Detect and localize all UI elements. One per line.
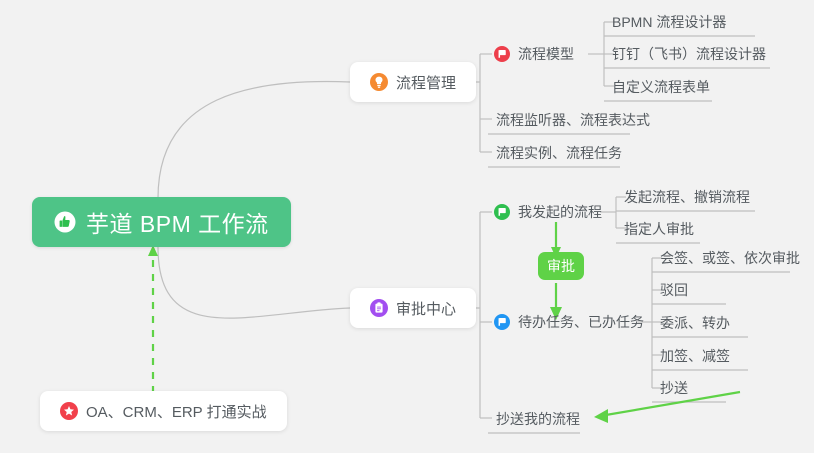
node-delegate-transfer[interactable]: 委派、转办 — [652, 308, 738, 338]
label-assigned-approval: 指定人审批 — [624, 219, 694, 239]
thumbs-up-icon — [54, 211, 76, 233]
annotation-approval-label: 审批 — [547, 256, 575, 276]
node-add-remove-sign[interactable]: 加签、减签 — [652, 341, 738, 371]
flag-icon — [494, 46, 510, 62]
label-cc-to-me-process: 抄送我的流程 — [496, 409, 580, 429]
lightbulb-icon — [370, 73, 388, 91]
label-delegate-transfer: 委派、转办 — [660, 313, 730, 333]
label-add-remove-sign: 加签、减签 — [660, 346, 730, 366]
node-instance-task[interactable]: 流程实例、流程任务 — [488, 138, 630, 168]
node-my-started-process[interactable]: 我发起的流程 — [490, 197, 610, 227]
node-custom-process-form[interactable]: 自定义流程表单 — [604, 72, 718, 102]
bottom-note-label: OA、CRM、ERP 打通实战 — [86, 401, 267, 422]
root-label: 芋道 BPM 工作流 — [86, 205, 269, 239]
label-listener-expression: 流程监听器、流程表达式 — [496, 110, 650, 130]
clipboard-icon — [370, 299, 388, 317]
label-dingtalk-feishu-designer: 钉钉（飞书）流程设计器 — [612, 44, 766, 64]
label-multi-sign: 会签、或签、依次审批 — [660, 248, 800, 268]
mindmap-canvas: 芋道 BPM 工作流 流程管理 流程模型 BPMN 流程设计器 钉钉（飞书）流程… — [0, 0, 814, 453]
label-todo-done-task: 待办任务、已办任务 — [518, 312, 644, 332]
node-start-cancel-process[interactable]: 发起流程、撤销流程 — [616, 182, 758, 212]
bottom-note-card[interactable]: OA、CRM、ERP 打通实战 — [40, 391, 287, 431]
label-custom-process-form: 自定义流程表单 — [612, 77, 710, 97]
label-start-cancel-process: 发起流程、撤销流程 — [624, 187, 750, 207]
branch-node-process-management[interactable]: 流程管理 — [350, 62, 476, 102]
flag-icon — [494, 204, 510, 220]
node-listener-expression[interactable]: 流程监听器、流程表达式 — [488, 105, 658, 135]
node-process-model[interactable]: 流程模型 — [490, 39, 582, 69]
node-cc-to-me-process[interactable]: 抄送我的流程 — [488, 404, 588, 434]
label-carbon-copy: 抄送 — [660, 378, 688, 398]
branch-node-approval-center[interactable]: 审批中心 — [350, 288, 476, 328]
flag-icon — [494, 314, 510, 330]
node-dingtalk-feishu-designer[interactable]: 钉钉（飞书）流程设计器 — [604, 39, 774, 69]
branch-label-approval-center: 审批中心 — [396, 298, 456, 319]
label-my-started-process: 我发起的流程 — [518, 202, 602, 222]
annotation-approval-badge: 审批 — [538, 252, 584, 280]
branch-label-process-management: 流程管理 — [396, 72, 456, 93]
label-instance-task: 流程实例、流程任务 — [496, 143, 622, 163]
root-node[interactable]: 芋道 BPM 工作流 — [32, 197, 291, 247]
star-icon — [60, 402, 78, 420]
node-carbon-copy[interactable]: 抄送 — [652, 373, 696, 403]
node-todo-done-task[interactable]: 待办任务、已办任务 — [490, 307, 652, 337]
label-bpmn-designer: BPMN 流程设计器 — [612, 12, 726, 32]
label-process-model: 流程模型 — [518, 44, 574, 64]
node-reject[interactable]: 驳回 — [652, 275, 696, 305]
node-assigned-approval[interactable]: 指定人审批 — [616, 214, 702, 244]
node-bpmn-designer[interactable]: BPMN 流程设计器 — [604, 7, 734, 37]
label-reject: 驳回 — [660, 280, 688, 300]
node-multi-sign[interactable]: 会签、或签、依次审批 — [652, 243, 808, 273]
